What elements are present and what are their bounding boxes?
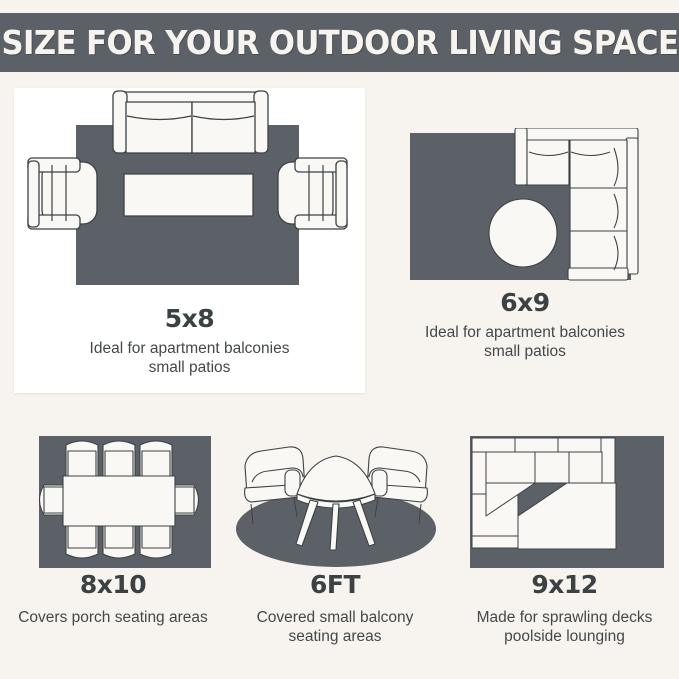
rug-diagram-9x12	[462, 432, 667, 568]
armchair-right-5x8	[278, 158, 347, 229]
page-title: SIZE FOR YOUR OUTDOOR LIVING SPACE	[1, 23, 678, 62]
size-label-6ft: 6FT	[222, 570, 448, 599]
description-6ft: Covered small balcony seating areas	[222, 608, 448, 646]
panel-8x10: 8x10 Covers porch seating areas	[0, 432, 226, 672]
size-label-6x9: 6x9	[385, 288, 665, 317]
round-table-6x9	[489, 199, 557, 267]
dining-table-8x10	[63, 476, 175, 526]
chairs-top-8x10	[66, 441, 172, 478]
header-banner: SIZE FOR YOUR OUTDOOR LIVING SPACE	[0, 13, 679, 72]
rug-diagram-6x9	[410, 128, 644, 286]
description-6x9: Ideal for apartment balconies small pati…	[385, 323, 665, 361]
panel-6x9: 6x9 Ideal for apartment balconies small …	[385, 128, 665, 368]
size-label-9x12: 9x12	[450, 570, 679, 599]
description-8x10: Covers porch seating areas	[0, 608, 226, 627]
rug-diagram-5x8	[14, 88, 365, 303]
size-label-8x10: 8x10	[0, 570, 226, 599]
panel-5x8-figure-wrap: 5x8 Ideal for apartment balconies small …	[14, 88, 365, 393]
armchair-left-5x8	[28, 158, 97, 229]
sofa-5x8	[113, 91, 268, 153]
panel-6ft: 6FT Covered small balcony seating areas	[222, 432, 448, 672]
panel-9x12: 9x12 Made for sprawling decks poolside l…	[450, 432, 679, 672]
rug-diagram-8x10	[16, 432, 211, 568]
coffee-table-5x8	[124, 174, 253, 216]
description-9x12: Made for sprawling decks poolside loungi…	[450, 608, 679, 646]
rug-diagram-6ft	[232, 432, 440, 568]
size-label-5x8: 5x8	[14, 304, 365, 333]
description-5x8: Ideal for apartment balconies small pati…	[14, 339, 365, 377]
